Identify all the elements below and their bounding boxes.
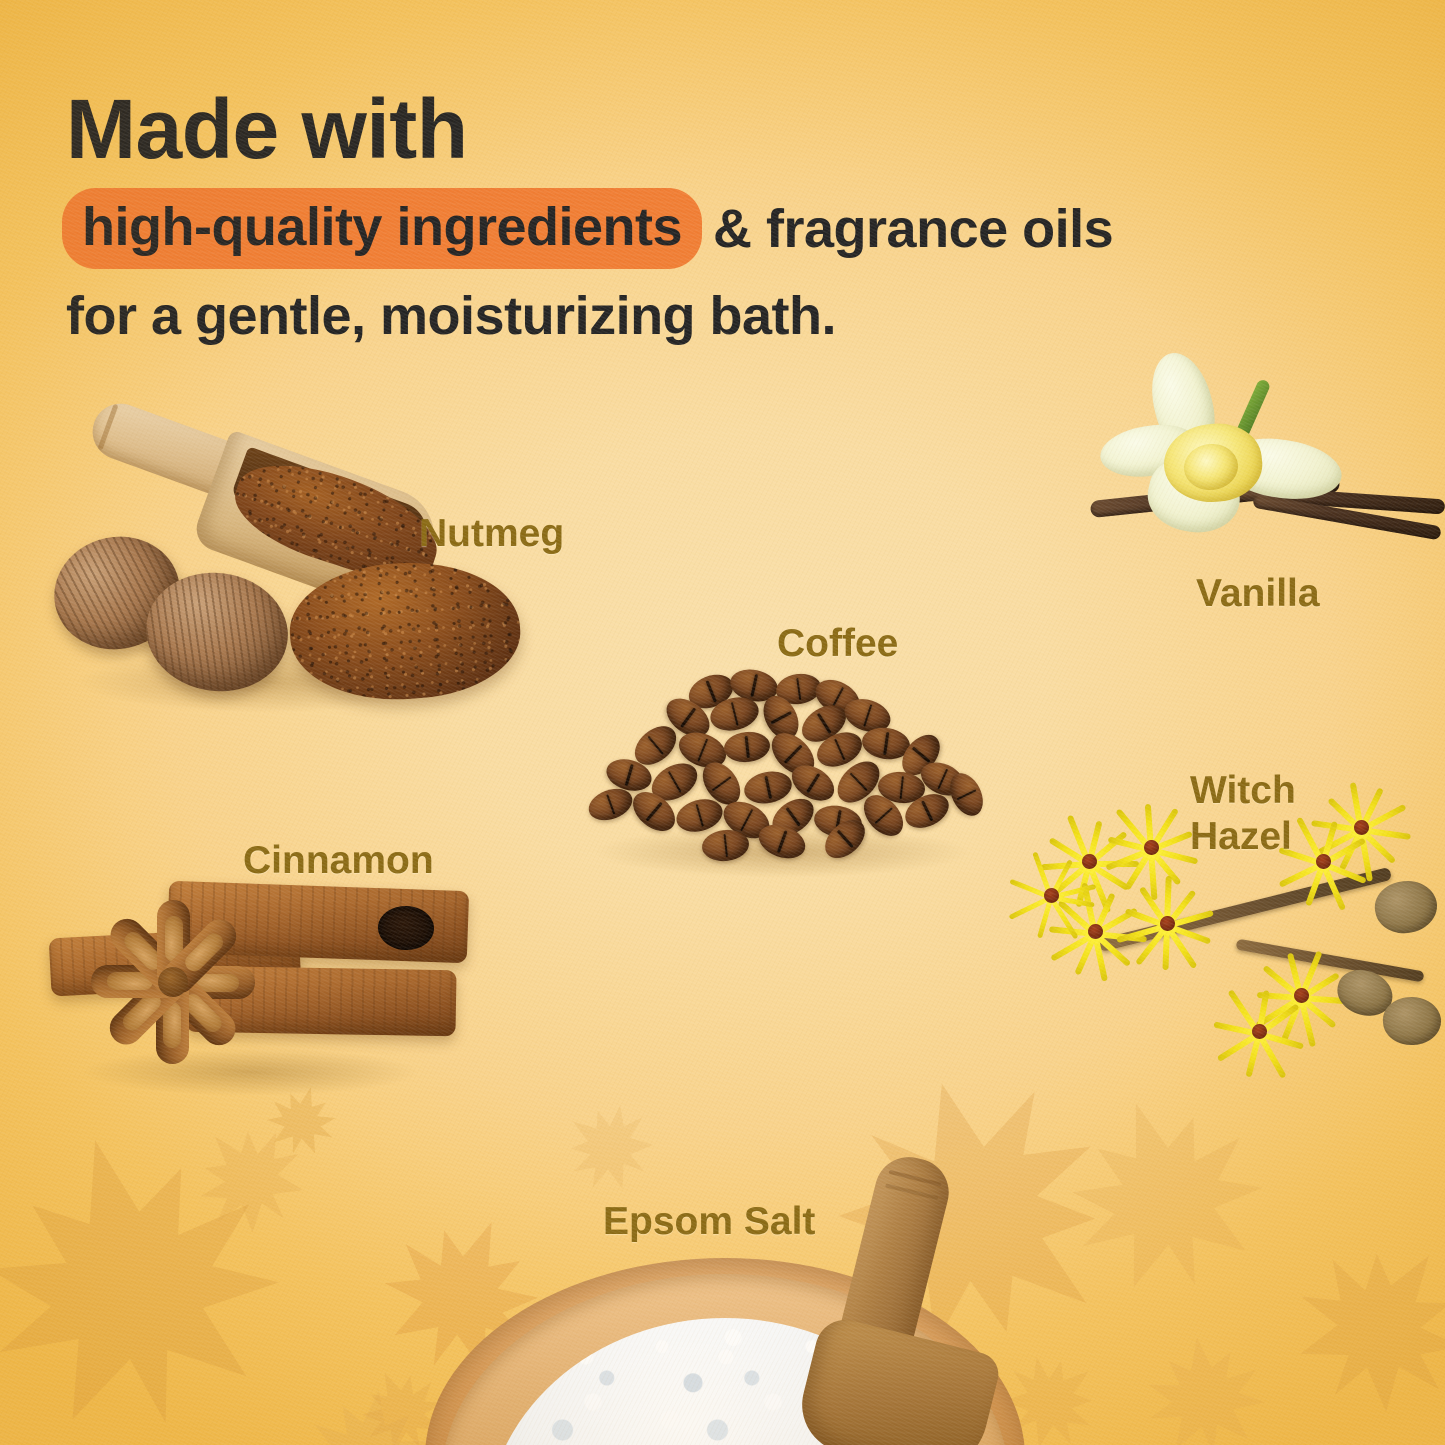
label-vanilla: Vanilla [1196,571,1320,617]
maple-leaf-icon [0,1086,324,1445]
witch-hazel-flower-cluster [1055,835,1255,1035]
maple-leaf-icon [541,1079,675,1213]
label-coffee: Coffee [777,621,898,667]
label-epsom-salt: Epsom Salt [603,1199,815,1245]
headline-line-2-rest: & fragrance oils [713,198,1113,260]
headline-line-3: for a gentle, moisturizing bath. [66,284,1366,348]
headline-line-1: Made with [66,86,1366,172]
maple-leaf-icon [1254,1196,1445,1445]
maple-leaf-icon [1033,1061,1298,1326]
label-cinnamon: Cinnamon [243,838,434,884]
maple-leaf-icon [1132,1322,1279,1445]
headline-line-2: high-quality ingredients & fragrance oil… [66,188,1366,269]
label-nutmeg: Nutmeg [419,511,564,557]
nutmeg-image [36,415,536,735]
cinnamon-image [40,872,490,1084]
highlight-pill: high-quality ingredients [62,188,702,269]
maple-leaf-icon [166,1094,332,1260]
vanilla-image [1080,340,1445,570]
label-witch-hazel: Witch Hazel [1190,768,1296,860]
epsom-salt-image [405,1238,1065,1445]
salt-scoop-bowl [792,1314,1003,1445]
ingredients-infographic: Made with high-quality ingredients & fra… [0,0,1445,1445]
star-anise-center [158,967,188,997]
star-anise [78,892,268,1072]
headline-block: Made with high-quality ingredients & fra… [66,86,1366,348]
coffee-beans-image [572,668,992,888]
whole-nutmeg-seed [138,564,295,701]
